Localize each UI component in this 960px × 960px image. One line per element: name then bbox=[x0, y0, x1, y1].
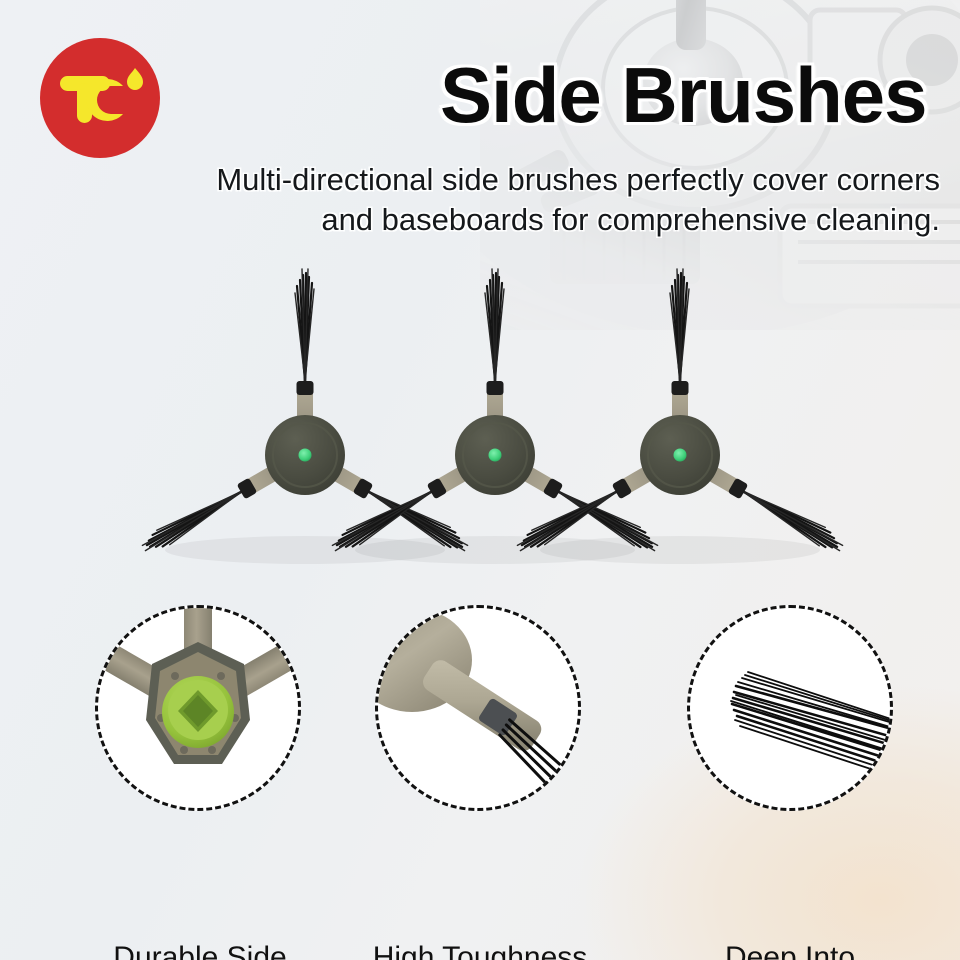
detail-circle-1 bbox=[95, 605, 301, 811]
side-brush-2 bbox=[329, 269, 661, 557]
side-brush-3 bbox=[514, 269, 846, 557]
feature-caption-3-line-1: Deep Into bbox=[650, 937, 930, 960]
feature-caption-2-line-1: High Toughness bbox=[340, 937, 620, 960]
brand-logo bbox=[40, 38, 160, 158]
feature-caption-1: Durable Side Brush Bristles bbox=[60, 855, 340, 960]
subtitle-line-1: Multi-directional side brushes perfectly… bbox=[216, 162, 940, 197]
logo-mark bbox=[40, 38, 160, 158]
feature-caption-2: High Toughness bbox=[340, 855, 620, 960]
marketing-banner: Side Brushes Multi-directional side brus… bbox=[0, 0, 960, 960]
logo-circle bbox=[40, 38, 160, 158]
feature-detail-2 bbox=[375, 605, 581, 811]
feature-captions: Durable Side Brush Bristles High Toughne… bbox=[0, 855, 960, 950]
detail-circle-3 bbox=[687, 605, 893, 811]
side-brush-1 bbox=[139, 269, 471, 557]
page-title: Side Brushes bbox=[440, 56, 927, 134]
feature-detail-row bbox=[0, 600, 960, 850]
feature-detail-1 bbox=[95, 605, 301, 811]
feature-caption-1-line-1: Durable Side bbox=[60, 937, 340, 960]
subtitle-line-2: and baseboards for comprehensive cleanin… bbox=[120, 200, 940, 240]
feature-caption-3: Deep Into Ground Crevice bbox=[650, 855, 930, 960]
feature-detail-3 bbox=[687, 605, 893, 811]
hero-product-image bbox=[0, 250, 960, 580]
page-subtitle: Multi-directional side brushes perfectly… bbox=[120, 160, 940, 239]
detail-circle-2 bbox=[375, 605, 581, 811]
